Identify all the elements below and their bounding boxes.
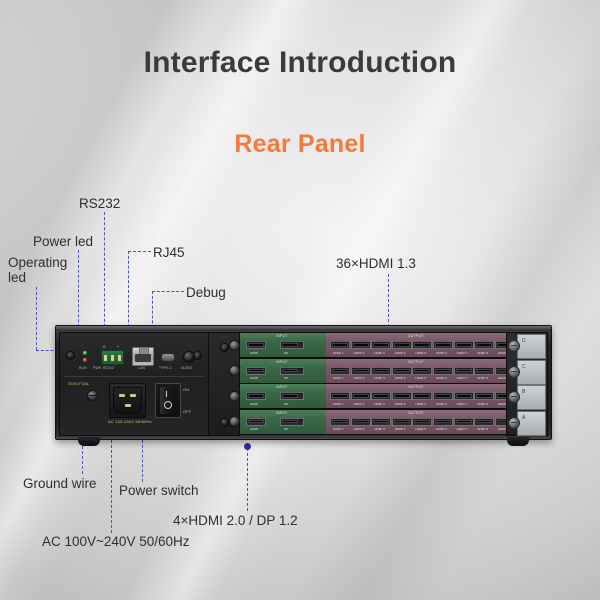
output-section-label: OUTPUT [408, 334, 424, 338]
output-port-label: HDMI 1 [333, 351, 344, 355]
input-section-label: INPUT [276, 385, 288, 389]
ac-inlet-pin-r [130, 394, 136, 397]
page-subtitle: Rear Panel [0, 130, 600, 159]
output-port-label: HDMI 5 [415, 402, 426, 406]
output-port-label: HDMI 3 [374, 376, 385, 380]
audio-jack[interactable] [183, 351, 195, 363]
output-port-hdmi-2[interactable] [351, 367, 371, 375]
output-port-label: HDMI 5 [415, 376, 426, 380]
power-switch[interactable] [155, 383, 181, 418]
input-port-hdmi[interactable] [246, 418, 266, 426]
output-port-hdmi-7[interactable] [454, 392, 474, 400]
page-title: Interface Introduction [0, 46, 600, 80]
slot-letter-d: D [522, 338, 526, 344]
output-port-hdmi-8[interactable] [474, 392, 494, 400]
output-port-label: HDMI 6 [436, 427, 447, 431]
led-run-label: RUN [79, 366, 87, 370]
callout-label-rs232: RS232 [79, 196, 120, 211]
output-port-label: HDMI 5 [415, 427, 426, 431]
io-card-stack: INPUTOUTPUTHDMIDPHDMI 1HDMI 2HDMI 3HDMI … [239, 332, 514, 434]
chassis-foot-left [78, 437, 100, 446]
leader-ac-input-v [111, 440, 112, 533]
output-port-hdmi-4[interactable] [392, 418, 412, 426]
output-port-label: HDMI 2 [354, 402, 365, 406]
output-port-hdmi-8[interactable] [474, 418, 494, 426]
output-port-hdmi-6[interactable] [433, 418, 453, 426]
slot-letter-b: B [522, 389, 525, 395]
card-retaining-screw[interactable] [229, 416, 240, 427]
output-port-label: HDMI 1 [333, 402, 344, 406]
rj45-contact-window [135, 354, 151, 362]
right-mount-bay: DCBA [506, 332, 548, 436]
output-port-hdmi-5[interactable] [412, 418, 432, 426]
callout-label-ac-input: AC 100V~240V 50/60Hz [42, 534, 189, 549]
card-retaining-screw[interactable] [229, 365, 240, 376]
input-port-label: HDMI [250, 402, 258, 406]
output-port-label: HDMI 3 [374, 402, 385, 406]
output-port-label: HDMI 6 [436, 351, 447, 355]
leader-operating-led-v [36, 287, 37, 350]
output-port-label: HDMI 5 [415, 351, 426, 355]
output-port-label: HDMI 1 [333, 427, 344, 431]
audio-label: AUDIO [181, 366, 192, 370]
leader-debug-h [152, 291, 184, 292]
io-card-a[interactable]: INPUTOUTPUTHDMIDPHDMI 1HDMI 2HDMI 3HDMI … [239, 409, 516, 435]
fuse-rating-label: 250V,F2AL [68, 381, 89, 386]
card-retaining-screw[interactable] [229, 340, 240, 351]
input-section-label: INPUT [276, 334, 288, 338]
output-port-hdmi-1[interactable] [330, 418, 350, 426]
output-port-hdmi-2[interactable] [351, 392, 371, 400]
input-port-dp[interactable] [280, 341, 304, 349]
output-port-hdmi-7[interactable] [454, 367, 474, 375]
ac-inlet-pin-l [119, 394, 125, 397]
usbc-label: TYPE-C [159, 366, 172, 370]
rs232-pin-2-label: - [110, 345, 111, 349]
slot-thumbscrew-c[interactable] [508, 366, 520, 378]
slot-thumbscrew-b[interactable] [508, 391, 520, 403]
usb-type-c-debug-port[interactable] [161, 353, 175, 362]
ground-screw[interactable] [87, 390, 98, 401]
rs232-pin-3 [118, 355, 121, 361]
output-port-label: HDMI 4 [395, 351, 406, 355]
output-port-label: HDMI 4 [395, 402, 406, 406]
card-retaining-screw[interactable] [229, 391, 240, 402]
power-led-indicator [83, 358, 87, 362]
rs232-label: RS232 [103, 366, 114, 370]
output-port-label: HDMI 3 [374, 427, 385, 431]
ac-inlet-pin-e [125, 404, 131, 407]
input-port-hdmi[interactable] [246, 341, 266, 349]
background-gradient [0, 0, 600, 600]
operating-led-indicator [83, 351, 87, 355]
led-pwr-label: PWR [93, 366, 101, 370]
output-port-hdmi-5[interactable] [412, 367, 432, 375]
output-port-label: HDMI 2 [354, 351, 365, 355]
output-port-hdmi-8[interactable] [474, 367, 494, 375]
output-port-hdmi-6[interactable] [433, 392, 453, 400]
left-control-panel: RUN PWR G - + RS232 LAN TYPE-C AUDIO 250… [59, 332, 209, 436]
rs232-connector[interactable] [101, 350, 124, 365]
input-port-label: DP [284, 427, 288, 431]
output-port-label: HDMI 8 [477, 402, 488, 406]
callout-dot-hdmi4 [244, 443, 251, 450]
slot-letter-c: C [522, 364, 526, 370]
input-section-label: INPUT [276, 411, 288, 415]
io-card-d[interactable]: INPUTOUTPUTHDMIDPHDMI 1HDMI 2HDMI 3HDMI … [239, 332, 516, 358]
output-port-label: HDMI 6 [436, 376, 447, 380]
input-port-label: DP [284, 402, 288, 406]
output-port-hdmi-7[interactable] [454, 341, 474, 349]
chassis-foot-right [507, 437, 529, 446]
output-port-hdmi-3[interactable] [371, 367, 391, 375]
input-port-dp[interactable] [280, 418, 304, 426]
output-port-label: HDMI 2 [354, 376, 365, 380]
slot-letter-a: A [522, 415, 525, 421]
leader-hdmi36-v [388, 274, 389, 327]
output-port-label: HDMI 6 [436, 402, 447, 406]
output-port-label: HDMI 7 [457, 351, 468, 355]
slot-thumbscrew-a[interactable] [508, 417, 520, 429]
rs232-pin-3-label: + [117, 345, 119, 349]
leader-hdmi4-v [247, 448, 248, 511]
output-port-label: HDMI 7 [457, 427, 468, 431]
rs232-pin-1-label: G [103, 345, 106, 349]
output-port-hdmi-5[interactable] [412, 392, 432, 400]
rj45-label: LAN [138, 366, 145, 370]
input-port-label: HDMI [250, 351, 258, 355]
callout-label-ground-wire: Ground wire [23, 476, 97, 491]
rj45-connector[interactable] [132, 347, 154, 366]
input-section-label: INPUT [276, 360, 288, 364]
panel-divider [64, 376, 204, 377]
slot-thumbscrew-d[interactable] [508, 340, 520, 352]
output-port-hdmi-4[interactable] [392, 341, 412, 349]
rear-panel-chassis: RUN PWR G - + RS232 LAN TYPE-C AUDIO 250… [55, 325, 552, 440]
callout-label-power-switch: Power switch [119, 483, 199, 498]
filler-screw-top [220, 343, 229, 352]
output-port-label: HDMI 7 [457, 402, 468, 406]
output-section-label: OUTPUT [408, 385, 424, 389]
io-card-c[interactable]: INPUTOUTPUTHDMIDPHDMI 1HDMI 2HDMI 3HDMI … [239, 358, 516, 384]
output-port-label: HDMI 3 [374, 351, 385, 355]
output-port-hdmi-1[interactable] [330, 341, 350, 349]
switch-off-label: OFF [183, 409, 191, 414]
output-port-hdmi-6[interactable] [433, 341, 453, 349]
output-port-hdmi-2[interactable] [351, 418, 371, 426]
panel-screw-left [66, 351, 75, 360]
callout-label-power-led: Power led [33, 234, 93, 249]
output-port-label: HDMI 4 [395, 427, 406, 431]
input-port-hdmi[interactable] [246, 367, 266, 375]
output-port-label: HDMI 8 [477, 351, 488, 355]
leader-rs232-v [104, 212, 105, 337]
output-port-hdmi-7[interactable] [454, 418, 474, 426]
input-port-label: DP [284, 376, 288, 380]
output-port-hdmi-5[interactable] [412, 341, 432, 349]
output-port-hdmi-3[interactable] [371, 341, 391, 349]
output-port-label: HDMI 2 [354, 427, 365, 431]
filler-screw-bottom [220, 418, 229, 427]
output-port-label: HDMI 1 [333, 376, 344, 380]
callout-label-hdmi-36: 36×HDMI 1.3 [336, 256, 416, 271]
input-port-dp[interactable] [280, 367, 304, 375]
callout-label-hdmi-4: 4×HDMI 2.0 / DP 1.2 [173, 513, 298, 528]
output-port-hdmi-3[interactable] [371, 418, 391, 426]
output-port-label: HDMI 4 [395, 376, 406, 380]
output-port-hdmi-3[interactable] [371, 392, 391, 400]
output-port-hdmi-1[interactable] [330, 367, 350, 375]
rs232-pin-1 [104, 355, 107, 361]
rocker-off-mark [164, 401, 172, 409]
callout-label-operating-led: Operating led [8, 255, 67, 285]
leader-rj45-h [128, 251, 151, 252]
leader-power-led-v [78, 250, 79, 337]
callout-label-debug: Debug [186, 285, 226, 300]
ac-inlet-rating-label: AC 100-240V 50/60Hz [108, 419, 152, 424]
rs232-pin-2 [111, 355, 114, 361]
chassis-top-edge [56, 326, 551, 331]
rocker-on-mark [166, 391, 167, 397]
output-port-hdmi-8[interactable] [474, 341, 494, 349]
output-section-label: OUTPUT [408, 360, 424, 364]
ac-inlet-body [113, 387, 142, 414]
leader-power-switch-v [142, 440, 143, 482]
ac-power-inlet[interactable] [109, 383, 146, 418]
output-section-label: OUTPUT [408, 411, 424, 415]
input-port-dp[interactable] [280, 392, 304, 400]
switch-on-label: ON [183, 387, 189, 392]
output-port-hdmi-4[interactable] [392, 392, 412, 400]
output-port-hdmi-1[interactable] [330, 392, 350, 400]
output-port-label: HDMI 8 [477, 376, 488, 380]
output-port-hdmi-6[interactable] [433, 367, 453, 375]
input-port-label: HDMI [250, 427, 258, 431]
callout-label-rj45: RJ45 [153, 245, 185, 260]
output-port-label: HDMI 7 [457, 376, 468, 380]
input-port-hdmi[interactable] [246, 392, 266, 400]
output-port-hdmi-2[interactable] [351, 341, 371, 349]
input-port-label: DP [284, 351, 288, 355]
io-card-b[interactable]: INPUTOUTPUTHDMIDPHDMI 1HDMI 2HDMI 3HDMI … [239, 383, 516, 409]
output-port-label: HDMI 8 [477, 427, 488, 431]
input-port-label: HDMI [250, 376, 258, 380]
output-port-hdmi-4[interactable] [392, 367, 412, 375]
